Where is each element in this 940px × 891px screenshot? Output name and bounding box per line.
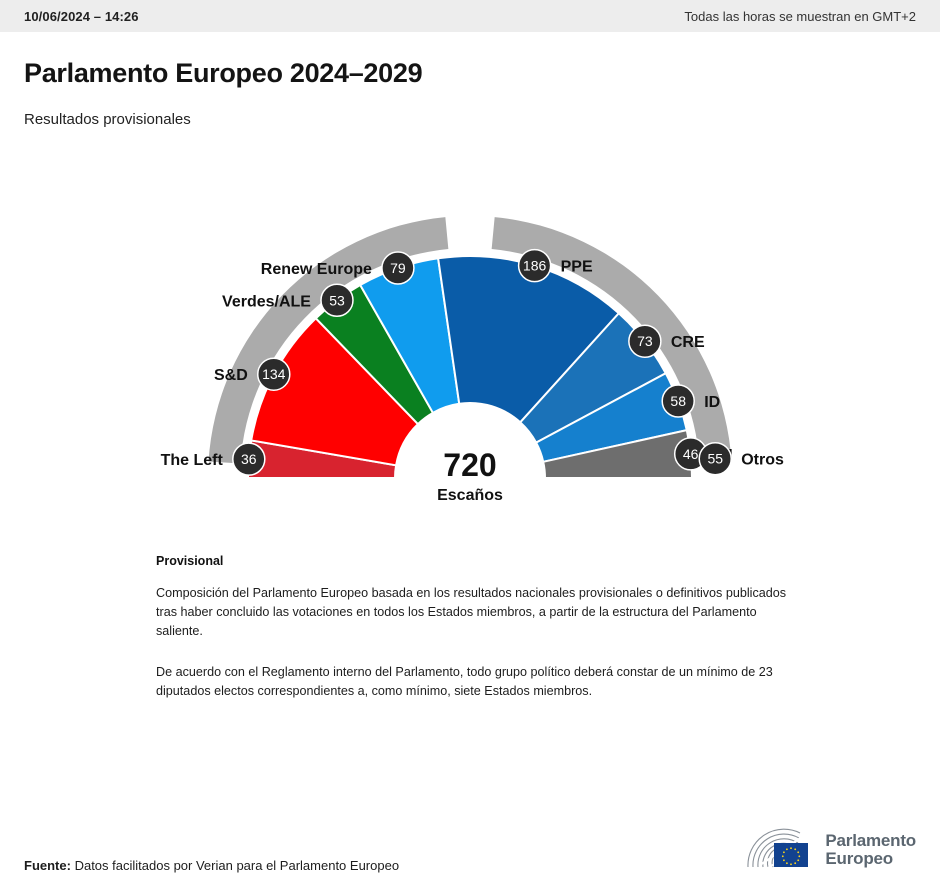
badge-value: 186 — [523, 258, 547, 274]
slice-label-id: ID — [704, 394, 720, 411]
slice-badge-s-d[interactable]: 134 — [258, 358, 290, 390]
slice-badge-renew-europe[interactable]: 79 — [382, 252, 414, 284]
badge-value: 55 — [707, 451, 723, 467]
hemicycle-svg: 36The Left134S&D53Verdes/ALE79Renew Euro… — [0, 156, 940, 536]
badge-value: 53 — [329, 292, 345, 308]
page-body: Parlamento Europeo 2024–2029 Resultados … — [0, 58, 940, 128]
notes-paragraph-2: De acuerdo con el Reglamento interno del… — [156, 663, 796, 701]
slice-badge-id[interactable]: 58 — [662, 385, 694, 417]
notes-heading: Provisional — [156, 554, 796, 568]
logo-text: Parlamento Europeo — [825, 832, 916, 869]
badge-value: 73 — [637, 333, 653, 349]
page-footer: Fuente: Datos facilitados por Verian par… — [24, 827, 916, 873]
source-text: Datos facilitados por Verian para el Par… — [75, 858, 399, 873]
slice-badge-cre[interactable]: 73 — [629, 325, 661, 357]
source-label: Fuente: — [24, 858, 71, 873]
notes-paragraph-1: Composición del Parlamento Europeo basad… — [156, 584, 796, 641]
badge-value: 79 — [390, 260, 406, 276]
slice-label-renew-europe: Renew Europe — [261, 261, 372, 278]
badge-value: 46 — [683, 446, 699, 462]
logo-line-2: Europeo — [825, 850, 916, 868]
slice-label-s-d: S&D — [214, 367, 248, 384]
logo-line-1: Parlamento — [825, 832, 916, 850]
hemicycle-logo-icon — [744, 827, 816, 873]
slice-label-cre: CRE — [671, 334, 705, 351]
badge-value: 36 — [241, 451, 257, 467]
hemicycle-chart: 36The Left134S&D53Verdes/ALE79Renew Euro… — [0, 156, 940, 536]
slice-label-ppe: PPE — [561, 259, 593, 276]
total-seats-value: 720 — [443, 447, 496, 483]
source-line: Fuente: Datos facilitados por Verian par… — [24, 858, 399, 873]
slice-label-verdes-ale: Verdes/ALE — [222, 293, 311, 310]
page-subtitle: Resultados provisionales — [24, 111, 916, 128]
slice-badge-verdes-ale[interactable]: 53 — [321, 284, 353, 316]
slice-badge-otros[interactable]: 55 — [699, 443, 731, 475]
badge-value: 134 — [262, 366, 286, 382]
top-status-bar: 10/06/2024 – 14:26 Todas las horas se mu… — [0, 0, 940, 32]
slice-label-the-left: The Left — [161, 452, 224, 469]
european-parliament-logo: Parlamento Europeo — [744, 827, 916, 873]
badge-value: 58 — [670, 393, 686, 409]
timezone-note: Todas las horas se muestran en GMT+2 — [684, 9, 916, 24]
page-title: Parlamento Europeo 2024–2029 — [24, 58, 916, 89]
total-seats-label: Escaños — [437, 487, 503, 504]
slice-badge-the-left[interactable]: 36 — [233, 443, 265, 475]
slice-label-otros: Otros — [741, 452, 784, 469]
notes-block: Provisional Composición del Parlamento E… — [156, 554, 796, 700]
timestamp: 10/06/2024 – 14:26 — [24, 9, 139, 24]
slice-badge-ppe[interactable]: 186 — [519, 250, 551, 282]
